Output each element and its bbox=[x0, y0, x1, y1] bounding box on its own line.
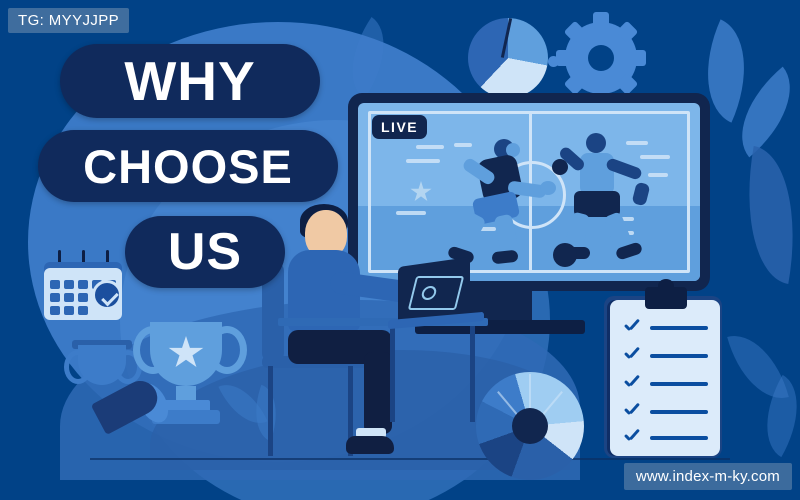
checklist-line bbox=[650, 354, 708, 358]
calendar-cell bbox=[64, 280, 74, 289]
chair-leg bbox=[268, 366, 273, 456]
desk-leg bbox=[470, 326, 475, 422]
hud-tick bbox=[406, 159, 440, 163]
title-pill-choose: CHOOSE bbox=[38, 130, 338, 202]
calendar-cell bbox=[50, 293, 60, 302]
hud-tick bbox=[396, 211, 426, 215]
title-pill-us: US bbox=[125, 216, 285, 288]
player-silhouette bbox=[454, 139, 564, 269]
goal-net-icon bbox=[408, 276, 464, 310]
person-shoe bbox=[346, 436, 394, 454]
checklist-row bbox=[624, 322, 708, 334]
tg-watermark-label: TG: MYYJJPP bbox=[8, 8, 129, 33]
clipboard-clamp-knob bbox=[658, 279, 674, 293]
checklist-line bbox=[650, 436, 708, 440]
checklist-row bbox=[624, 350, 708, 362]
gear-tooth bbox=[593, 12, 609, 28]
calendar-cell bbox=[64, 293, 74, 302]
calendar-cell bbox=[78, 306, 88, 315]
check-icon bbox=[624, 378, 640, 390]
desk-leg bbox=[390, 326, 395, 422]
soccer-ball bbox=[553, 243, 577, 267]
promo-banner: LIVE bbox=[0, 0, 800, 500]
gear-tooth bbox=[556, 50, 572, 66]
checklist-row bbox=[624, 432, 708, 444]
calendar-cell bbox=[50, 280, 60, 289]
calendar-cell bbox=[78, 280, 88, 289]
tv-monitor: LIVE bbox=[348, 93, 710, 291]
checklist-row bbox=[624, 378, 708, 390]
floor-line bbox=[90, 458, 730, 460]
calendar-cell bbox=[78, 293, 88, 302]
checklist-line bbox=[650, 410, 708, 414]
site-watermark-label: www.index-m-ky.com bbox=[624, 463, 792, 490]
clipboard-icon bbox=[610, 300, 720, 456]
check-icon bbox=[624, 406, 640, 418]
title-pill-why: WHY bbox=[60, 44, 320, 118]
checklist-row bbox=[624, 406, 708, 418]
check-icon bbox=[624, 350, 640, 362]
leaf-icon bbox=[731, 146, 800, 284]
gear-tooth bbox=[630, 50, 646, 66]
hud-tick bbox=[416, 145, 444, 149]
calendar-check-badge bbox=[92, 280, 122, 310]
calendar-cell bbox=[50, 306, 60, 315]
calendar-cell bbox=[64, 306, 74, 315]
person-lower-leg bbox=[364, 352, 392, 434]
live-badge: LIVE bbox=[372, 115, 427, 139]
check-icon bbox=[624, 432, 640, 444]
gear-center-hole bbox=[588, 45, 614, 71]
tv-screen: LIVE bbox=[358, 103, 700, 281]
checklist-line bbox=[650, 326, 708, 330]
checklist-line bbox=[650, 382, 708, 386]
check-icon bbox=[624, 322, 640, 334]
donut-chart-hub bbox=[512, 408, 548, 444]
